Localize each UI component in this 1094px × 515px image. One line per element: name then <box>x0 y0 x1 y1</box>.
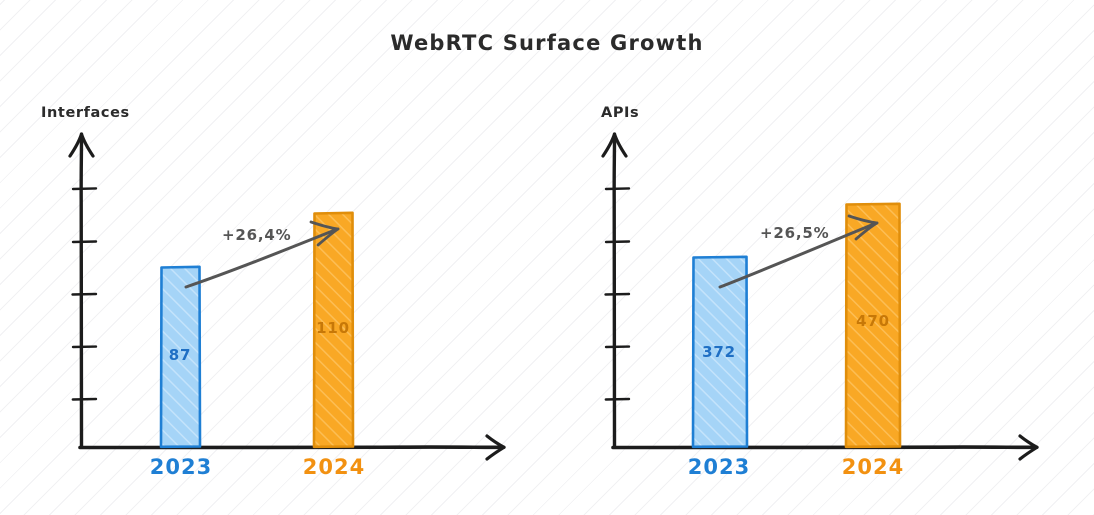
y-tick-left-5 <box>73 399 96 400</box>
y-tick-right-5 <box>606 399 629 400</box>
y-axis-label-apis: APIs <box>601 105 639 121</box>
chart-figure: WebRTC Surface Growth Interfaces <box>0 0 1094 515</box>
bar-left-2024-value: 110 <box>316 319 350 337</box>
chart-canvas: WebRTC Surface Growth Interfaces <box>0 0 1094 515</box>
growth-label-left: +26,4% <box>222 226 291 244</box>
bar-left-2023-value: 87 <box>169 346 191 364</box>
panel-apis: APIs 372 <box>601 105 1037 479</box>
panel-interfaces: Interfaces 87 <box>41 105 504 479</box>
x-tick-label-left-2024: 2024 <box>303 455 365 479</box>
x-tick-label-right-2024: 2024 <box>842 455 904 479</box>
y-tick-right-3 <box>606 294 630 295</box>
y-axis-arrow-left-b <box>82 134 94 156</box>
y-tick-left-2 <box>73 242 96 243</box>
bar-right-2023-value: 372 <box>702 343 736 361</box>
x-tick-label-right-2023: 2023 <box>688 455 750 479</box>
y-axis-label-interfaces: Interfaces <box>41 105 130 121</box>
y-tick-right-2 <box>606 242 629 243</box>
y-tick-left-1 <box>73 188 96 189</box>
page-title: WebRTC Surface Growth <box>390 31 703 55</box>
y-tick-left-3 <box>73 294 97 295</box>
y-axis-arrow-right-b <box>615 134 627 156</box>
y-tick-right-1 <box>606 188 629 189</box>
x-tick-label-left-2023: 2023 <box>150 455 212 479</box>
growth-label-right: +26,5% <box>760 224 829 242</box>
bar-right-2024-value: 470 <box>856 312 890 330</box>
